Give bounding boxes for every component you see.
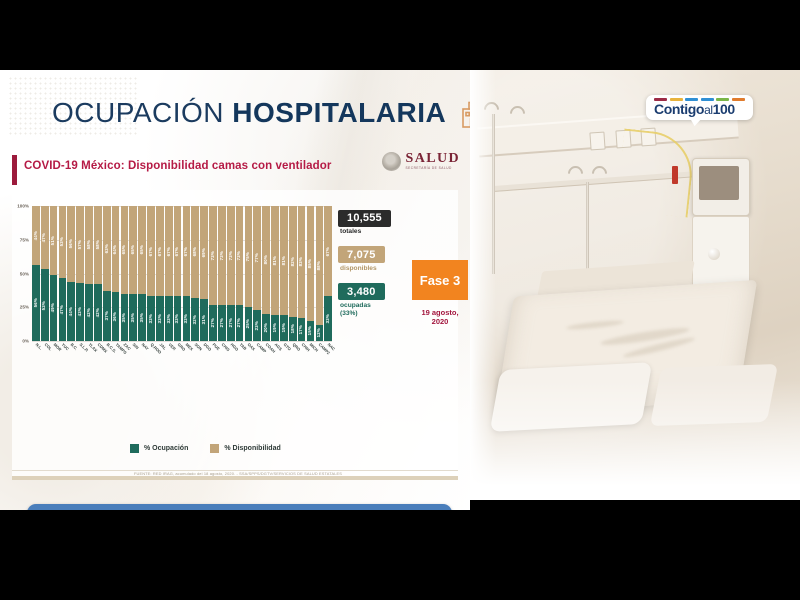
chart-bar: 65%35% — [138, 206, 146, 341]
chart-bar: 67%33% — [324, 206, 332, 341]
bar-segment-ocupacion: 35% — [138, 294, 146, 341]
bar-segment-ocupacion: 33% — [156, 296, 164, 341]
wall-outlet-icon — [589, 131, 605, 150]
bar-value-label: 65% — [122, 245, 126, 254]
phase-badge: Fase 3 — [412, 260, 468, 300]
salud-logo: SALUD SECRETARÍA DE SALUD — [382, 152, 460, 171]
bar-value-label: 67% — [167, 247, 171, 256]
chart-bar: 81%19% — [271, 206, 279, 341]
bar-segment-disponibilidad: 77% — [253, 206, 261, 310]
bar-segment-disponibilidad: 51% — [50, 206, 58, 275]
letterbox-bottom — [0, 510, 800, 600]
chart-y-tick-label: 0% — [22, 339, 29, 344]
bar-value-label: 44% — [34, 231, 38, 240]
bar-segment-ocupacion: 37% — [103, 291, 111, 341]
bar-segment-disponibilidad: 65% — [121, 206, 129, 294]
stat-value: 3,480 — [338, 283, 385, 300]
bar-segment-ocupacion: 18% — [289, 317, 297, 341]
legend-swatch — [130, 444, 139, 453]
bar-value-label: 67% — [175, 247, 179, 256]
bar-value-label: 63% — [105, 244, 109, 253]
bar-segment-ocupacion: 36% — [112, 292, 120, 341]
chart-bar: 67%33% — [147, 206, 155, 341]
bar-value-label: 35% — [122, 313, 126, 322]
bar-value-label: 25% — [246, 319, 250, 328]
bar-segment-ocupacion: 27% — [218, 305, 226, 341]
bar-value-label: 47% — [60, 305, 64, 314]
bar-segment-disponibilidad: 73% — [227, 206, 235, 305]
bar-value-label: 35% — [131, 313, 135, 322]
chart-bar: 85%15% — [307, 206, 315, 341]
bar-value-label: 37% — [105, 311, 109, 320]
bar-value-label: 19% — [282, 323, 286, 332]
chart-bars: 44%56%47%53%51%49%53%47%56%44%57%43%58%4… — [32, 206, 332, 341]
contigo-al-100-logo: Contigoal100 — [646, 95, 753, 120]
chart-bar: 73%27% — [218, 206, 226, 341]
title-word-hospitalaria: HOSPITALARIA — [232, 97, 446, 128]
bar-value-label: 23% — [255, 321, 259, 330]
bar-segment-disponibilidad: 44% — [32, 206, 40, 265]
bar-value-label: 67% — [158, 247, 162, 256]
bar-segment-ocupacion: 33% — [147, 296, 155, 341]
bar-segment-ocupacion: 44% — [67, 282, 75, 341]
bar-segment-disponibilidad: 67% — [147, 206, 155, 296]
bar-segment-ocupacion: 35% — [121, 294, 129, 341]
chart-legend: % Ocupación% Disponibilidad — [130, 444, 281, 453]
ventilator-knob — [708, 248, 720, 260]
chart-bar: 73%27% — [227, 206, 235, 341]
bar-segment-disponibilidad: 53% — [59, 206, 67, 278]
title-word-ocupacion: OCUPACIÓN — [52, 97, 232, 128]
bar-segment-ocupacion: 25% — [245, 307, 253, 341]
bar-segment-ocupacion: 20% — [262, 314, 270, 341]
bar-value-label: 19% — [273, 323, 277, 332]
bar-segment-disponibilidad: 82% — [289, 206, 297, 317]
bar-segment-ocupacion: 42% — [94, 284, 102, 341]
bar-value-label: 69% — [202, 248, 206, 257]
bar-value-label: 27% — [237, 318, 241, 327]
bar-segment-disponibilidad: 73% — [209, 206, 217, 305]
chart-bar: 69%31% — [200, 206, 208, 341]
chart-bar: 58%42% — [85, 206, 93, 341]
bar-value-label: 81% — [282, 256, 286, 265]
bar-value-label: 68% — [193, 247, 197, 256]
bar-segment-ocupacion: 31% — [200, 299, 208, 341]
bar-value-label: 36% — [113, 312, 117, 321]
bar-value-label: 42% — [87, 308, 91, 317]
bar-value-label: 73% — [229, 251, 233, 260]
emergency-valve-icon — [672, 166, 678, 184]
chart-bar: 44%56% — [32, 206, 40, 341]
legend-item: % Disponibilidad — [210, 444, 280, 453]
bar-segment-disponibilidad: 58% — [94, 206, 102, 284]
monitor-screen — [699, 166, 739, 200]
chart-bar: 75%25% — [245, 206, 253, 341]
bar-value-label: 33% — [167, 314, 171, 323]
bar-segment-disponibilidad: 63% — [103, 206, 111, 291]
iv-pole — [586, 182, 589, 282]
bar-value-label: 82% — [291, 257, 295, 266]
chart-bar: 67%33% — [174, 206, 182, 341]
bar-segment-disponibilidad: 69% — [200, 206, 208, 299]
chart-y-tick-label: 50% — [20, 271, 29, 276]
bar-segment-ocupacion: 49% — [50, 275, 58, 341]
stat-caption: disponibles — [340, 265, 398, 273]
legend-label: % Disponibilidad — [224, 445, 280, 452]
bar-value-label: 43% — [78, 307, 82, 316]
chart-bar: 73%27% — [209, 206, 217, 341]
bar-value-label: 67% — [149, 247, 153, 256]
chart-x-axis-labels: N.L.COLMORYUCB.C.S.L.P.TLAXCDMXB.C.S.TAM… — [32, 344, 332, 358]
chart-bar: 83%17% — [298, 206, 306, 341]
bar-value-label: 12% — [317, 328, 321, 337]
stat-caption-line: ocupadas — [340, 302, 398, 310]
bar-segment-ocupacion: 19% — [271, 315, 279, 341]
bar-value-label: 65% — [140, 245, 144, 254]
bar-segment-disponibilidad: 75% — [245, 206, 253, 307]
bar-segment-ocupacion: 17% — [298, 318, 306, 341]
chart-bar: 65%35% — [121, 206, 129, 341]
chart-y-tick-label: 25% — [20, 305, 29, 310]
bar-segment-disponibilidad: 67% — [156, 206, 164, 296]
chart-bar: 67%33% — [183, 206, 191, 341]
bar-value-label: 73% — [220, 251, 224, 260]
slide-title: OCUPACIÓN HOSPITALARIA — [52, 96, 470, 130]
bar-segment-ocupacion: 47% — [59, 278, 67, 341]
accent-bar — [12, 155, 17, 185]
bar-segment-disponibilidad: 58% — [85, 206, 93, 284]
salud-logo-name: SALUD — [406, 152, 460, 166]
bar-value-label: 42% — [96, 308, 100, 317]
chart-bar: 88%12% — [316, 206, 324, 341]
chart-bar: 73%27% — [236, 206, 244, 341]
chart-bar: 77%23% — [253, 206, 261, 341]
logo-text-100: 100 — [713, 101, 735, 117]
bar-value-label: 64% — [113, 245, 117, 254]
hospital-room-photo: Contigoal100 — [470, 70, 800, 500]
bar-value-label: 35% — [140, 313, 144, 322]
bar-segment-ocupacion: 23% — [253, 310, 261, 341]
bar-value-label: 73% — [237, 251, 241, 260]
bar-value-label: 31% — [202, 315, 206, 324]
bar-value-label: 33% — [158, 314, 162, 323]
slide-date: 19 agosto, 2020 — [408, 308, 470, 327]
bar-value-label: 32% — [193, 315, 197, 324]
photo-bottom-fade — [470, 380, 800, 500]
chart-bar: 53%47% — [59, 206, 67, 341]
bar-value-label: 47% — [42, 233, 46, 242]
bar-segment-disponibilidad: 73% — [236, 206, 244, 305]
stat-caption: totales — [340, 228, 398, 236]
chart-bar: 51%49% — [50, 206, 58, 341]
bar-value-label: 33% — [149, 314, 153, 323]
bar-value-label: 77% — [255, 253, 259, 262]
bar-segment-disponibilidad: 57% — [76, 206, 84, 283]
bar-segment-ocupacion: 56% — [32, 265, 40, 341]
presentation-slide: OCUPACIÓN HOSPITALARIA COVID — [0, 70, 470, 510]
bar-segment-disponibilidad: 47% — [41, 206, 49, 269]
bar-segment-ocupacion: 12% — [316, 325, 324, 341]
bar-segment-ocupacion: 33% — [174, 296, 182, 341]
bar-segment-ocupacion: 42% — [85, 284, 93, 341]
bar-segment-disponibilidad: 83% — [298, 206, 306, 318]
chart-x-tick-label: N.L. — [32, 344, 40, 358]
chart-bar: 67%33% — [156, 206, 164, 341]
bar-segment-disponibilidad: 64% — [112, 206, 120, 292]
bar-value-label: 80% — [264, 255, 268, 264]
bar-segment-ocupacion: 33% — [165, 296, 173, 341]
chart-bar: 68%32% — [191, 206, 199, 341]
bar-segment-ocupacion: 27% — [209, 305, 217, 341]
bar-value-label: 27% — [211, 318, 215, 327]
logo-text-al: al — [704, 103, 713, 117]
bar-value-label: 85% — [308, 259, 312, 268]
bar-value-label: 53% — [60, 237, 64, 246]
bar-value-label: 81% — [273, 256, 277, 265]
chart-bar: 82%18% — [289, 206, 297, 341]
bar-value-label: 58% — [96, 240, 100, 249]
bar-segment-disponibilidad: 73% — [218, 206, 226, 305]
chart-bar: 63%37% — [103, 206, 111, 341]
bar-segment-ocupacion: 35% — [129, 294, 137, 341]
bar-value-label: 18% — [291, 324, 295, 333]
stat-caption-line: (33%) — [340, 310, 398, 318]
chart-bar: 58%42% — [94, 206, 102, 341]
bar-value-label: 75% — [246, 252, 250, 261]
salud-logo-subtitle: SECRETARÍA DE SALUD — [406, 167, 460, 170]
legend-item: % Ocupación — [130, 444, 188, 453]
bar-segment-disponibilidad: 67% — [324, 206, 332, 296]
stat-value: 10,555 — [338, 210, 391, 227]
bar-segment-disponibilidad: 80% — [262, 206, 270, 314]
bar-segment-ocupacion: 27% — [227, 305, 235, 341]
legend-label: % Ocupación — [144, 445, 188, 452]
bar-segment-ocupacion: 19% — [280, 315, 288, 341]
chart-subtitle: COVID-19 México: Disponibilidad camas co… — [24, 160, 331, 172]
bar-segment-disponibilidad: 65% — [129, 206, 137, 294]
stat-pill-group: 10,555totales7,075disponibles3,480ocupad… — [338, 208, 398, 327]
hospital-building-icon — [456, 96, 470, 130]
chart-bar: 67%33% — [165, 206, 173, 341]
chart-y-tick-label: 75% — [20, 237, 29, 242]
chart-bar: 56%44% — [67, 206, 75, 341]
bar-segment-ocupacion: 43% — [76, 283, 84, 341]
bar-value-label: 33% — [326, 314, 330, 323]
bar-segment-ocupacion: 33% — [183, 296, 191, 341]
bar-value-label: 53% — [42, 301, 46, 310]
bar-segment-ocupacion: 15% — [307, 321, 315, 341]
chart-bar: 57%43% — [76, 206, 84, 341]
bar-segment-ocupacion: 33% — [324, 296, 332, 341]
bar-segment-disponibilidad: 67% — [183, 206, 191, 296]
slide-date-line2: 2020 — [408, 317, 470, 326]
bar-value-label: 33% — [175, 314, 179, 323]
letterbox-top — [0, 0, 800, 70]
bar-value-label: 56% — [34, 298, 38, 307]
bar-segment-ocupacion: 27% — [236, 305, 244, 341]
bar-segment-disponibilidad: 67% — [174, 206, 182, 296]
bar-segment-disponibilidad: 68% — [191, 206, 199, 298]
bar-segment-disponibilidad: 67% — [165, 206, 173, 296]
bar-value-label: 20% — [264, 323, 268, 332]
chart-bar: 64%36% — [112, 206, 120, 341]
bar-segment-disponibilidad: 88% — [316, 206, 324, 325]
bar-value-label: 51% — [51, 236, 55, 245]
bar-value-label: 67% — [184, 247, 188, 256]
bar-value-label: 73% — [211, 251, 215, 260]
logo-text-contigo: Contigo — [654, 101, 704, 117]
chart-bar: 80%20% — [262, 206, 270, 341]
chart-bar: 65%35% — [129, 206, 137, 341]
footer-band — [12, 476, 458, 480]
bar-segment-disponibilidad: 56% — [67, 206, 75, 282]
bar-value-label: 27% — [229, 318, 233, 327]
bar-value-label: 57% — [78, 240, 82, 249]
bar-value-label: 65% — [131, 245, 135, 254]
mexican-eagle-emblem-icon — [382, 152, 401, 171]
ventilator-monitor — [692, 158, 750, 216]
chart-y-tick-label: 100% — [17, 204, 29, 209]
bar-value-label: 17% — [299, 325, 303, 334]
broadcast-screen: OCUPACIÓN HOSPITALARIA COVID — [0, 0, 800, 600]
bar-value-label: 33% — [184, 314, 188, 323]
bar-segment-disponibilidad: 81% — [271, 206, 279, 315]
bar-value-label: 15% — [308, 326, 312, 335]
bar-value-label: 83% — [299, 257, 303, 266]
stacked-bar-chart: 0%25%50%75%100%44%56%47%53%51%49%53%47%5… — [32, 206, 332, 341]
bar-value-label: 88% — [317, 261, 321, 270]
bar-segment-disponibilidad: 85% — [307, 206, 315, 321]
bar-value-label: 58% — [87, 240, 91, 249]
bar-value-label: 49% — [51, 303, 55, 312]
bar-value-label: 27% — [220, 318, 224, 327]
bar-value-label: 67% — [326, 247, 330, 256]
stat-value: 7,075 — [338, 246, 385, 263]
chart-bar: 47%53% — [41, 206, 49, 341]
legend-swatch — [210, 444, 219, 453]
bar-segment-disponibilidad: 81% — [280, 206, 288, 315]
stat-caption: ocupadas(33%) — [340, 302, 398, 318]
slide-date-line1: 19 agosto, — [408, 308, 470, 317]
chart-bar: 81%19% — [280, 206, 288, 341]
bar-value-label: 56% — [69, 239, 73, 248]
bar-segment-disponibilidad: 65% — [138, 206, 146, 294]
bar-value-label: 44% — [69, 307, 73, 316]
bar-segment-ocupacion: 53% — [41, 269, 49, 341]
bar-segment-ocupacion: 32% — [191, 298, 199, 341]
